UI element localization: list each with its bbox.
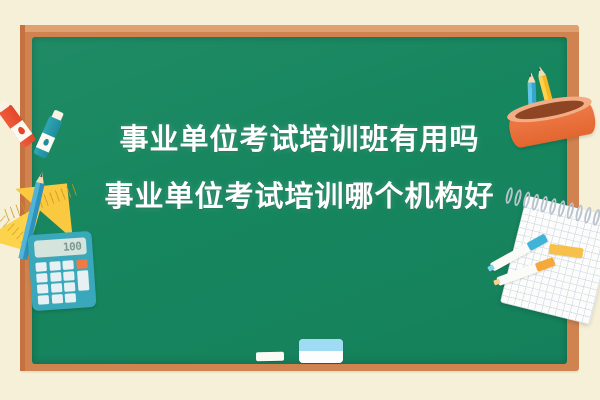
pen-tip	[493, 279, 500, 286]
calculator-key	[51, 294, 63, 303]
spiral-ring	[557, 200, 567, 218]
chalkboard-surface	[32, 37, 567, 364]
eraser-bottom-half	[299, 351, 343, 363]
calculator-key	[64, 282, 76, 291]
spiral-ring	[583, 206, 593, 224]
spiral-ring	[539, 195, 549, 213]
calculator-key-accent	[76, 259, 88, 268]
spiral-ring	[548, 198, 558, 216]
calculator-key-tall	[77, 270, 89, 290]
calculator-key	[65, 294, 77, 303]
pen-tip	[487, 264, 495, 271]
spiral-ring	[530, 193, 540, 211]
calculator-key	[38, 295, 50, 304]
spiral-ring	[565, 202, 575, 220]
spiral-ring	[522, 191, 532, 209]
poster-canvas: 事业单位考试培训班有用吗 事业单位考试培训哪个机构好 100	[0, 0, 600, 400]
calculator-display-value: 100	[63, 240, 82, 254]
calculator-key	[49, 261, 61, 270]
spiral-ring	[574, 204, 584, 222]
calculator-key	[35, 262, 47, 271]
calculator-key	[50, 272, 62, 281]
chalkboard-frame-top-highlight	[20, 25, 579, 32]
paint-tube-cap	[0, 99, 10, 112]
spiral-ring	[513, 189, 523, 207]
calculator-key	[51, 283, 63, 292]
calculator-key	[37, 284, 49, 293]
calculator-key	[36, 273, 48, 282]
calculator-display: 100	[34, 237, 87, 258]
calculator-keypad	[35, 259, 90, 305]
calculator-icon: 100	[27, 231, 96, 311]
pencil-lead-tip	[530, 73, 532, 77]
eraser-top-half	[299, 339, 343, 351]
chalk-stick-icon	[256, 352, 284, 361]
board-eraser-icon	[299, 339, 343, 363]
calculator-key	[63, 271, 75, 280]
calculator-key	[63, 260, 75, 269]
